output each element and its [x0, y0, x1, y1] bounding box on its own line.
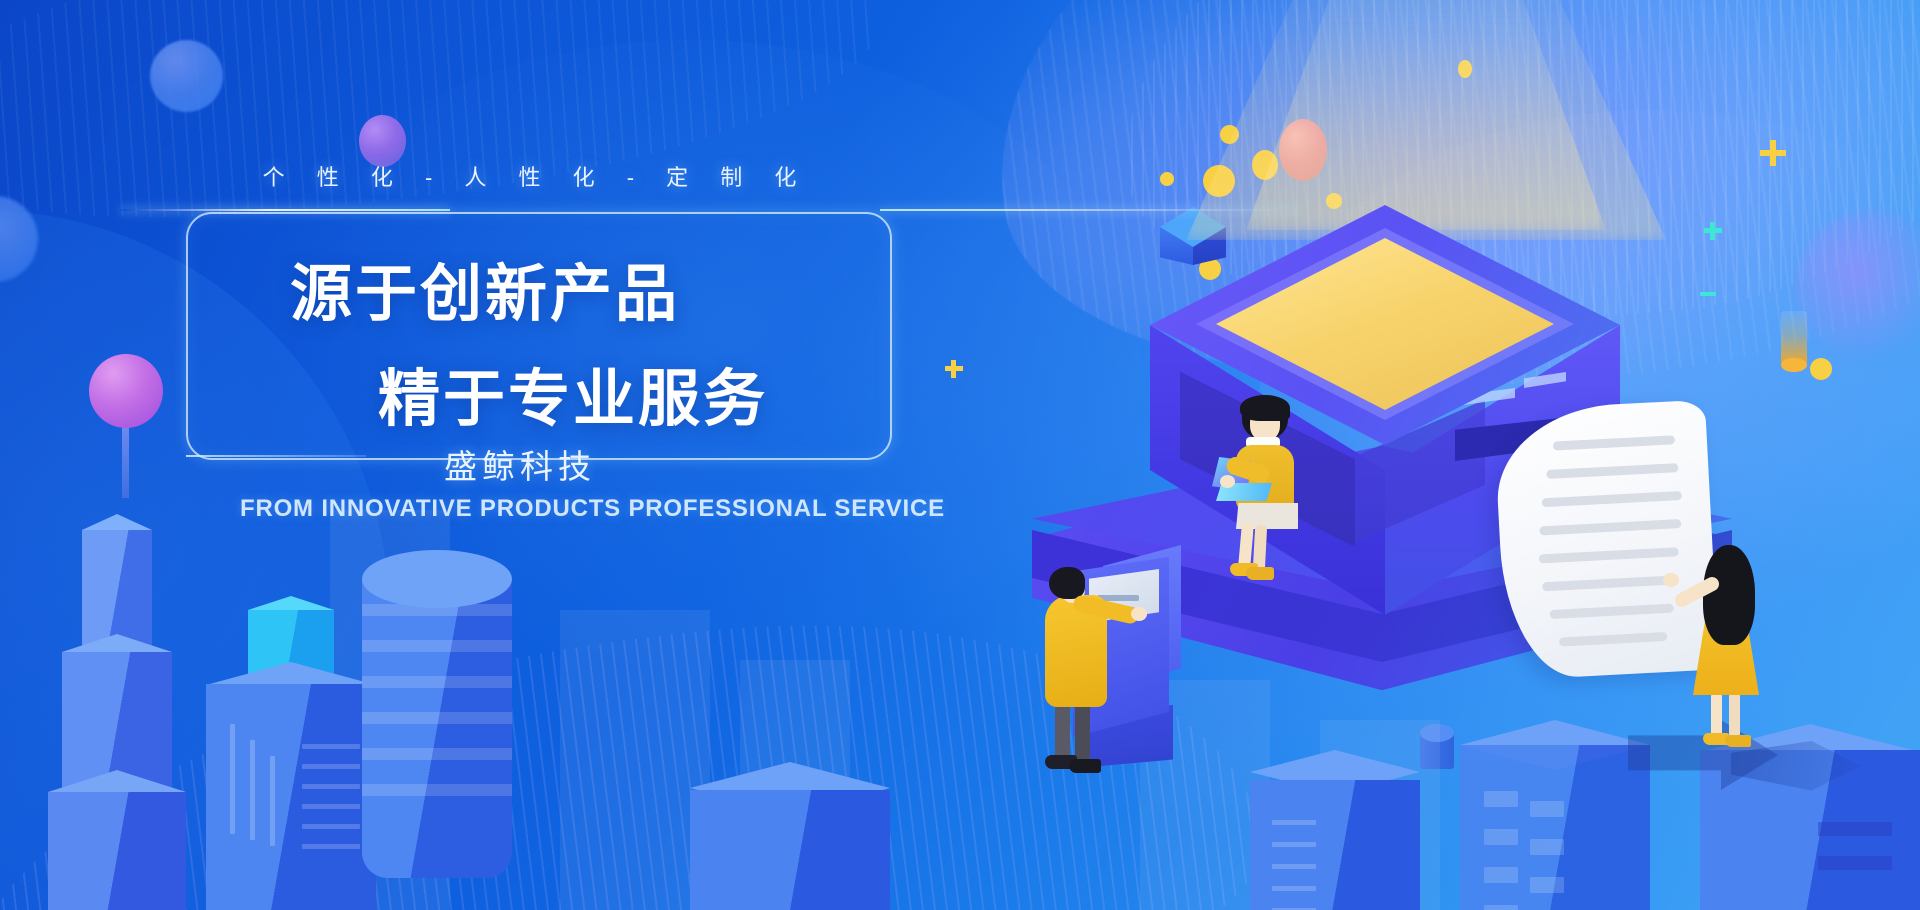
brand-name: 盛鲸科技	[444, 440, 596, 488]
leg	[1055, 701, 1070, 761]
hair	[1049, 567, 1085, 599]
cube-left-face	[1160, 227, 1193, 265]
glow-line-left	[120, 209, 450, 211]
building-window	[1818, 822, 1892, 836]
leg	[1075, 703, 1090, 761]
dot-yellow-icon	[1810, 358, 1832, 380]
dash-cyan-icon	[1700, 292, 1716, 296]
subtitle-english: FROM INNOVATIVE PRODUCTS PROFESSIONAL SE…	[240, 495, 945, 523]
document-line	[1553, 435, 1675, 450]
building-cap	[1460, 720, 1650, 770]
person-seated-woman	[1210, 395, 1330, 585]
headline-line-1: 源于创新产品	[290, 243, 680, 333]
building-window	[1484, 867, 1518, 883]
document-line	[1550, 604, 1674, 619]
document-line	[1559, 632, 1667, 647]
building-cap	[1250, 750, 1420, 794]
dot-yellow-icon	[1160, 172, 1174, 186]
sphere-violet-glow-icon	[1796, 212, 1920, 362]
document-line	[1542, 491, 1682, 507]
cylinder-blue-icon	[1420, 733, 1454, 769]
building-window	[1484, 905, 1518, 910]
building-block	[1250, 780, 1420, 910]
document-line	[1542, 575, 1676, 591]
skyline-flat-block	[1320, 720, 1440, 910]
building-window	[1530, 839, 1564, 855]
document-line	[1539, 519, 1681, 535]
hair	[1703, 545, 1755, 645]
hair-front	[1240, 395, 1290, 421]
cylinder-yellow-icon	[1781, 311, 1807, 365]
headline-line-2: 精于专业服务	[378, 348, 768, 438]
shoe	[1246, 567, 1274, 580]
glow-line-right	[880, 209, 1300, 211]
leg	[1711, 691, 1722, 739]
person-standing-woman	[1675, 545, 1785, 745]
banner-root: 个 性 化 - 人 性 化 - 定 制 化 源于创新产品 精于专业服务 盛鲸科技…	[0, 0, 1920, 910]
headline-text-block: 个 性 化 - 人 性 化 - 定 制 化 源于创新产品 精于专业服务 盛鲸科技…	[0, 0, 1000, 910]
building-window	[1484, 829, 1518, 845]
hand	[1131, 607, 1147, 621]
shoe	[1725, 735, 1751, 747]
building-window	[1272, 886, 1316, 891]
building-block	[1460, 745, 1650, 910]
shoe	[1069, 759, 1101, 773]
eyebrow-tagline: 个 性 化 - 人 性 化 - 定 制 化	[180, 160, 892, 192]
hand	[1663, 573, 1679, 587]
building-window	[1272, 820, 1316, 825]
dot-yellow-icon	[1199, 258, 1221, 280]
building-window	[1530, 801, 1564, 817]
hand	[1220, 475, 1235, 488]
leg	[1729, 691, 1740, 739]
building-window	[1272, 864, 1316, 869]
brand-underline	[186, 455, 366, 457]
document-line	[1539, 547, 1679, 563]
building-window	[1530, 877, 1564, 893]
plus-cyan-icon	[1704, 222, 1722, 240]
building-window	[1818, 856, 1892, 870]
person-man-at-kiosk	[1045, 545, 1215, 775]
plus-yellow-icon	[1760, 140, 1786, 166]
document-line	[1546, 463, 1678, 479]
building-window	[1484, 791, 1518, 807]
building-window	[1272, 842, 1316, 847]
